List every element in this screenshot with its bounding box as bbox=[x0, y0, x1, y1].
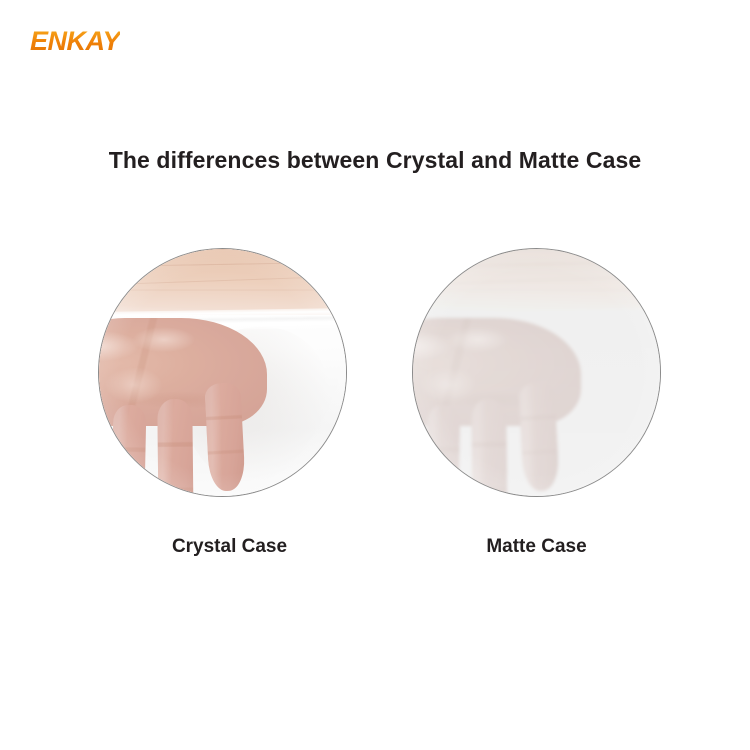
sample-matte-case bbox=[412, 248, 661, 497]
finger-middle bbox=[471, 399, 507, 497]
finger-index bbox=[204, 382, 246, 492]
caption-matte-case: Matte Case bbox=[412, 536, 661, 558]
wrist-region bbox=[412, 248, 661, 315]
sample-crystal-case bbox=[98, 248, 347, 497]
finger-ring bbox=[110, 405, 146, 497]
finger-ring bbox=[424, 405, 460, 497]
caption-crystal-case: Crystal Case bbox=[105, 536, 354, 558]
page-title: The differences between Crystal and Matt… bbox=[0, 147, 750, 174]
crystal-case-photo bbox=[98, 248, 347, 497]
matte-case-photo bbox=[412, 248, 661, 497]
wrist-region bbox=[98, 248, 347, 315]
finger-middle bbox=[157, 399, 193, 497]
finger-index bbox=[518, 382, 560, 492]
comparison-gallery bbox=[0, 248, 750, 498]
brand-logo: ENKAY bbox=[30, 28, 120, 55]
